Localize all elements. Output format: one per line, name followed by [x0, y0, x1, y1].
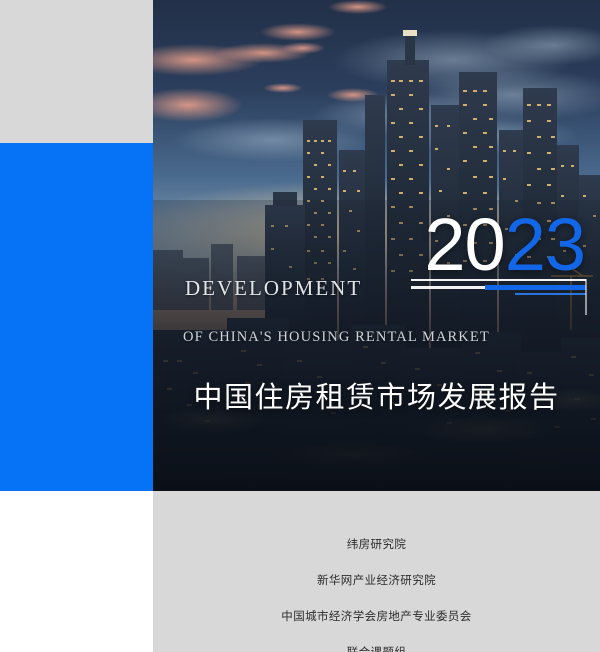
left-decoration-column	[0, 0, 153, 491]
bottom-white-block	[0, 491, 153, 652]
credit-line: 新华网产业经济研究院	[317, 572, 436, 588]
rooftop-beacon	[403, 30, 417, 36]
credit-line: 纬房研究院	[347, 536, 407, 552]
credit-line: 联合课题组	[347, 644, 407, 652]
credits-block: 纬房研究院 新华网产业经济研究院 中国城市经济学会房地产专业委员会 联合课题组	[153, 491, 600, 652]
cityscape-illustration	[153, 0, 600, 491]
hero-cityscape-image: DEVELOPMENT OF CHINA'S HOUSING RENTAL MA…	[153, 0, 600, 491]
left-gray-block	[0, 0, 153, 143]
credit-line: 中国城市经济学会房地产专业委员会	[281, 608, 471, 624]
report-cover-page: DEVELOPMENT OF CHINA'S HOUSING RENTAL MA…	[0, 0, 600, 652]
left-blue-block	[0, 143, 153, 491]
